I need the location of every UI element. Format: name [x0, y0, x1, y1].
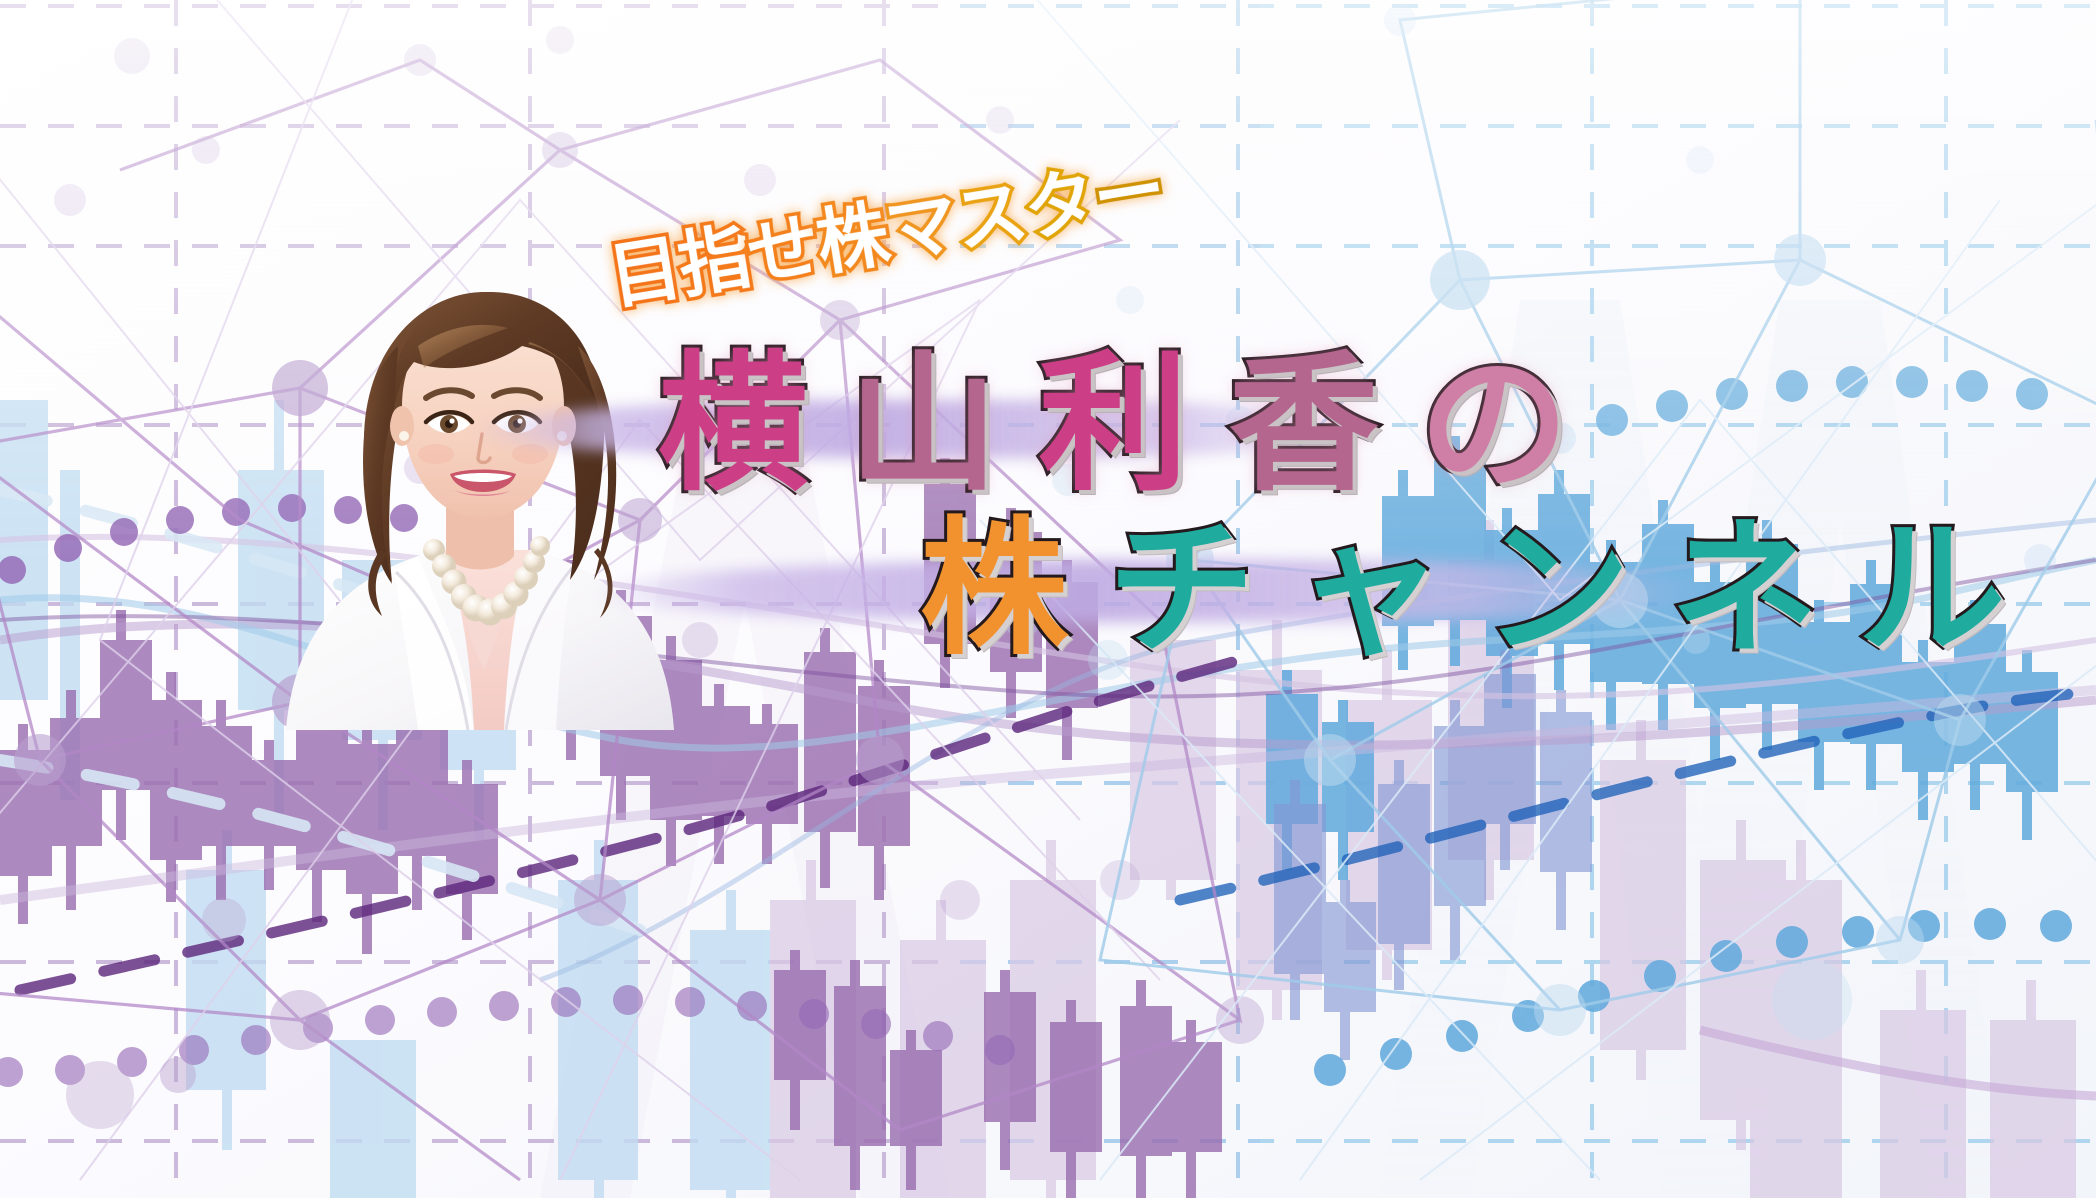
title-char: 株: [920, 515, 1062, 663]
title-char: チ: [1108, 515, 1250, 663]
title-char: ル: [1858, 515, 2000, 663]
title-char: ネ: [1670, 515, 1812, 663]
title-line-channel: 株 チ ャ ン ネ ル: [920, 515, 2000, 663]
title-char: 横: [658, 350, 802, 500]
title-char: 山: [848, 350, 992, 500]
earring-left: [399, 431, 409, 441]
tagline-char: ー: [1088, 153, 1169, 235]
tagline-char: 株: [812, 198, 893, 280]
tagline-char: タ: [1019, 164, 1100, 246]
title-char: の: [1419, 350, 1563, 500]
title-char: 香: [1229, 350, 1373, 500]
tagline-char: 目: [604, 231, 685, 313]
title-line-host-name: 横 山 利 香 の: [658, 350, 1563, 500]
channel-title-block: 目 指 せ 株 マ ス タ ー 横 山 利 香 の 株 チ ャ ン ネ ル: [620, 250, 1620, 670]
youtube-channel-banner: 目 指 せ 株 マ ス タ ー 横 山 利 香 の 株 チ ャ ン ネ ル: [0, 0, 2096, 1198]
tagline-char: マ: [881, 186, 962, 268]
tagline-char: せ: [742, 209, 823, 291]
title-char: ャ: [1295, 515, 1437, 663]
title-char: ン: [1483, 515, 1625, 663]
title-char: 利: [1039, 350, 1183, 500]
tagline-char: 指: [673, 220, 754, 302]
tagline-char: ス: [950, 175, 1031, 257]
